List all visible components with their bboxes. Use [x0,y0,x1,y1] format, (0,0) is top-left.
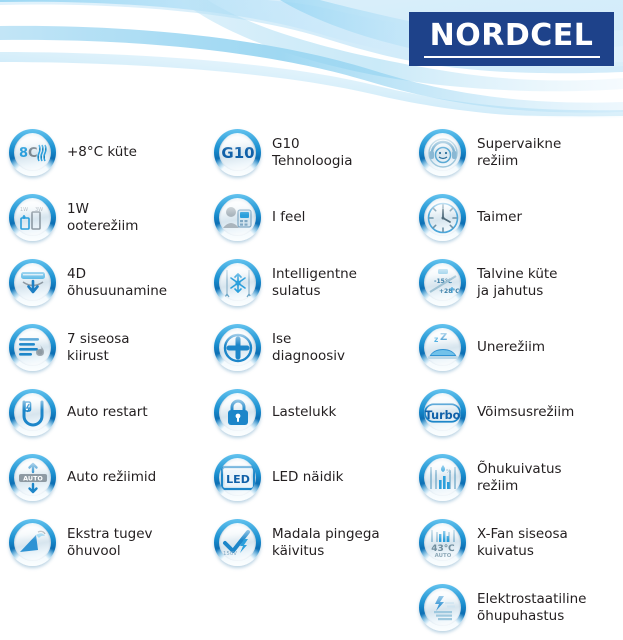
icon-glyph [219,199,256,236]
feature-label-line2: režiim [477,153,561,170]
svg-text:G10: G10 [221,144,254,162]
self-diagnosis-icon [214,324,261,371]
feature-item[interactable]: -15℃ +28℃ Talvine küteja jahutus [414,250,619,315]
feature-label-line2: õhupuhastus [477,608,587,625]
feature-label: 7 siseosakiirust [67,331,130,364]
g10-technology-icon: G10 [214,129,261,176]
feature-label: Võimsusrežiim [477,404,574,421]
column-1: 8 C +8°C küte 1W 3W 1Wooterežiim 4Dõhusu… [4,120,209,575]
icon-glyph: Turbo [424,394,461,431]
icon-glyph [219,394,256,431]
feature-item[interactable]: 43℃ AUTO X-Fan siseosakuivatus [414,510,619,575]
feature-label-line1: Auto restart [67,404,148,420]
feature-item[interactable]: Taimer [414,185,619,250]
feature-item[interactable]: 8 C +8°C küte [4,120,209,185]
child-lock-icon [214,389,261,436]
feature-label: Auto restart [67,404,148,421]
auto-restart-icon [9,389,56,436]
feature-label-line1: Intelligentne [272,266,357,282]
dehumidify-mode-icon: % [419,454,466,501]
feature-label-line2: Tehnoloogia [272,153,353,170]
feature-label-line1: Elektrostaatiline [477,591,587,607]
svg-text:%: % [446,469,451,475]
feature-label-line1: Supervaikne [477,136,561,152]
plus-8-degree-heating-icon: 8 C [9,129,56,176]
feature-label-line1: Õhukuivatus [477,461,562,477]
feature-label-line2: ooterežiim [67,218,138,235]
svg-text:AUTO: AUTO [23,474,43,482]
svg-text:z: z [434,335,438,344]
feature-label: G10Tehnoloogia [272,136,353,169]
icon-glyph [219,264,256,301]
icon-glyph: -15℃ +28℃ [424,264,461,301]
icon-glyph: 8 C [14,134,51,171]
feature-label: Supervaiknerežiim [477,136,561,169]
feature-label-line2: käivitus [272,543,380,560]
feature-label-line2: õhusuunamine [67,283,167,300]
icon-glyph [424,589,461,626]
feature-label-line1: Talvine küte [477,266,558,282]
feature-label-line2: sulatus [272,283,357,300]
x-fan-dry-icon: 43℃ AUTO [419,519,466,566]
icon-glyph: 150V [219,524,256,561]
feature-item[interactable]: Auto restart [4,380,209,445]
feature-label: Talvine küteja jahutus [477,266,558,299]
feature-label: 1Wooterežiim [67,201,138,234]
icon-glyph: % [424,459,461,496]
feature-item[interactable]: I feel [209,185,414,250]
feature-item[interactable]: 1W 3W 1Wooterežiim [4,185,209,250]
feature-label-line2: režiim [477,478,562,495]
four-d-airflow-icon [9,259,56,306]
feature-label-line1: Ekstra tugev [67,526,153,542]
feature-item[interactable]: 7 siseosakiirust [4,315,209,380]
feature-label: Õhukuivatusrežiim [477,461,562,494]
super-quiet-mode-icon [419,129,466,176]
feature-label-line2: ja jahutus [477,283,558,300]
feature-item[interactable]: LED LED näidik [209,445,414,510]
feature-item[interactable]: Supervaiknerežiim [414,120,619,185]
icon-glyph [14,394,51,431]
icon-glyph [14,264,51,301]
winter-heating-cooling-icon: -15℃ +28℃ [419,259,466,306]
feature-label: Lastelukk [272,404,336,421]
feature-label-line1: X-Fan siseosa [477,526,568,542]
icon-glyph [424,134,461,171]
feature-item[interactable]: Turbo Võimsusrežiim [414,380,619,445]
svg-text:1W: 1W [20,207,28,213]
svg-text:Turbo: Turbo [425,408,461,421]
icon-glyph: z Z [424,329,461,366]
svg-text:C: C [28,146,38,161]
feature-label: Madala pingegakäivitus [272,526,380,559]
feature-label-line2: kiirust [67,348,130,365]
feature-item[interactable]: Isediagnoosiv [209,315,414,380]
column-2: G10 G10Tehnoloogia I feel Intelligentnes… [209,120,414,575]
feature-item[interactable]: % Õhukuivatusrežiim [414,445,619,510]
svg-text:Z: Z [440,332,447,343]
icon-glyph [14,524,51,561]
feature-item[interactable]: G10 G10Tehnoloogia [209,120,414,185]
auto-modes-icon: AUTO [9,454,56,501]
header-banner: NORDCEL [0,0,623,120]
icon-glyph: 1W 3W [14,199,51,236]
feature-label-line1: Taimer [477,209,522,225]
feature-label: 4Dõhusuunamine [67,266,167,299]
feature-label: X-Fan siseosakuivatus [477,526,568,559]
feature-label-line1: Võimsusrežiim [477,404,574,420]
feature-label: Elektrostaatilineõhupuhastus [477,591,587,624]
feature-label-line1: I feel [272,209,305,225]
feature-item[interactable]: z Z Unerežiim [414,315,619,380]
feature-label: Unerežiim [477,339,545,356]
svg-text:150V: 150V [223,551,237,557]
led-display-icon: LED [214,454,261,501]
feature-label-line2: diagnoosiv [272,348,345,365]
feature-item[interactable]: 150V Madala pingegakäivitus [209,510,414,575]
low-voltage-start-icon: 150V [214,519,261,566]
turbo-power-mode-icon: Turbo [419,389,466,436]
feature-item[interactable]: Intelligentnesulatus [209,250,414,315]
svg-text:+28℃: +28℃ [439,288,460,295]
svg-text:AUTO: AUTO [434,553,451,559]
feature-label: LED näidik [272,469,343,486]
feature-label: Isediagnoosiv [272,331,345,364]
feature-label: Taimer [477,209,522,226]
timer-icon [419,194,466,241]
icon-glyph: LED [219,459,256,496]
icon-glyph [219,329,256,366]
feature-label-line1: Unerežiim [477,339,545,355]
feature-label-line2: õhuvool [67,543,153,560]
i-feel-icon [214,194,261,241]
seven-fan-speeds-icon [9,324,56,371]
feature-label-line1: Auto režiimid [67,469,156,485]
feature-label-line1: 4D [67,266,86,282]
icon-glyph: AUTO [14,459,51,496]
feature-label: I feel [272,209,305,226]
one-watt-standby-icon: 1W 3W [9,194,56,241]
feature-label-line1: LED näidik [272,469,343,485]
feature-label-line1: Madala pingega [272,526,380,542]
brand-logo: NORDCEL [409,12,614,66]
feature-item[interactable]: AUTO Auto režiimid [4,445,209,510]
icon-glyph: G10 [219,134,256,171]
feature-label: +8°C küte [67,144,137,161]
icon-glyph [424,199,461,236]
svg-text:8: 8 [19,146,28,161]
svg-text:LED: LED [226,473,250,486]
feature-label-line1: G10 [272,136,300,152]
feature-label-line1: Ise [272,331,291,347]
extra-strong-airflow-icon [9,519,56,566]
feature-label-line1: 1W [67,201,89,217]
feature-label: Auto režiimid [67,469,156,486]
sleep-mode-icon: z Z [419,324,466,371]
icon-glyph: 43℃ AUTO [424,524,461,561]
logo-underline [424,56,600,58]
feature-item[interactable]: Elektrostaatilineõhupuhastus [414,575,619,640]
icon-glyph [14,329,51,366]
electrostatic-air-clean-icon [419,584,466,631]
feature-label-line1: Lastelukk [272,404,336,420]
feature-grid: 8 C +8°C küte 1W 3W 1Wooterežiim 4Dõhusu… [0,120,623,636]
brand-name: NORDCEL [430,21,594,51]
feature-item[interactable]: 4Dõhusuunamine [4,250,209,315]
feature-label: Intelligentnesulatus [272,266,357,299]
column-3: Supervaiknerežiim Taimer -15℃ +28℃ Talvi… [414,120,619,640]
intelligent-defrost-icon [214,259,261,306]
feature-item[interactable]: Ekstra tugevõhuvool [4,510,209,575]
feature-item[interactable]: Lastelukk [209,380,414,445]
feature-label: Ekstra tugevõhuvool [67,526,153,559]
feature-label-line1: +8°C küte [67,144,137,160]
feature-label-line2: kuivatus [477,543,568,560]
feature-label-line1: 7 siseosa [67,331,130,347]
